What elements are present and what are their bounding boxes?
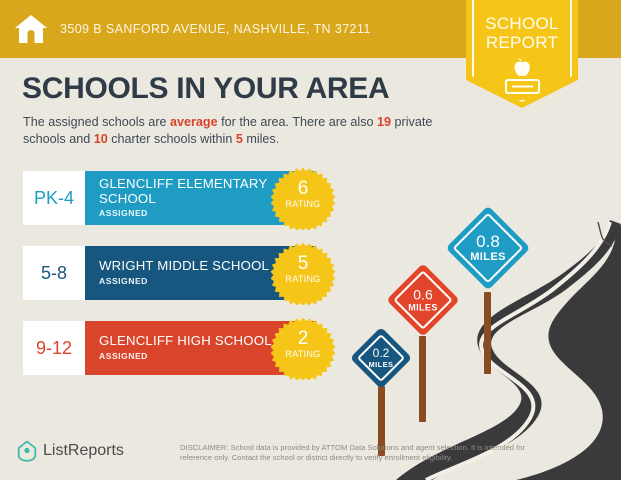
distance-sign: 0.8 MILES [458, 218, 518, 278]
subtitle-part2: for the area. There are also [218, 115, 377, 129]
subtitle-part1: The assigned schools are [23, 115, 170, 129]
rating-value: 5 [271, 254, 335, 273]
sign-post [484, 292, 491, 374]
grade-range-label: 5-8 [41, 263, 67, 284]
subtitle-highlight-charter-count: 10 [94, 132, 108, 146]
page-subtitle: The assigned schools are average for the… [23, 114, 453, 148]
rating-badge: 5 RATING [271, 241, 335, 305]
sign-inner-border [393, 270, 452, 329]
rating-value: 2 [271, 329, 335, 348]
grade-range-label: 9-12 [36, 338, 72, 359]
listreports-house-pin-icon [17, 440, 37, 462]
disclaimer-text: DISCLAIMER: School data is provided by A… [180, 443, 550, 463]
distance-sign: 0.6 MILES [397, 274, 449, 326]
home-icon [14, 13, 48, 45]
page-title: SCHOOLS IN YOUR AREA [22, 72, 389, 106]
book-icon [506, 80, 539, 93]
logo-text: ListReports [43, 442, 124, 460]
subtitle-highlight-private-count: 19 [377, 115, 391, 129]
sign-post [419, 336, 426, 422]
grade-range-box: 5-8 [23, 246, 85, 300]
grade-range-box: PK-4 [23, 171, 85, 225]
school-report-badge: SCHOOL REPORT [466, 0, 578, 108]
grade-range-box: 9-12 [23, 321, 85, 375]
rating-label: RATING [271, 349, 335, 359]
rating-label: RATING [271, 274, 335, 284]
sign-inner-border [453, 213, 524, 284]
header-content: 3509 B SANFORD AVENUE, NASHVILLE, TN 372… [14, 0, 371, 58]
listreports-logo[interactable]: ListReports [17, 440, 124, 462]
subtitle-highlight-average: average [170, 115, 218, 129]
apple-and-book-icon [495, 56, 549, 98]
grade-range-label: PK-4 [34, 188, 74, 209]
sign-inner-border [357, 334, 405, 382]
distance-sign: 0.2 MILES [359, 336, 403, 380]
rating-label: RATING [271, 199, 335, 209]
subtitle-part5: miles. [243, 132, 279, 146]
distance-illustration: 0.8 MILES 0.6 MILES 0.2 MILES [366, 196, 621, 480]
badge-title-line2: REPORT [486, 33, 558, 52]
property-address: 3509 B SANFORD AVENUE, NASHVILLE, TN 372… [60, 22, 371, 36]
infographic-page: 3509 B SANFORD AVENUE, NASHVILLE, TN 372… [0, 0, 621, 480]
rating-value: 6 [271, 179, 335, 198]
badge-title: SCHOOL REPORT [466, 14, 578, 52]
subtitle-part4: charter schools within [108, 132, 236, 146]
rating-badge: 6 RATING [271, 166, 335, 230]
rating-badge: 2 RATING [271, 316, 335, 380]
subtitle-highlight-radius: 5 [236, 132, 243, 146]
apple-icon [515, 58, 530, 76]
badge-title-line1: SCHOOL [485, 14, 559, 33]
badge-icon-group [466, 56, 578, 98]
